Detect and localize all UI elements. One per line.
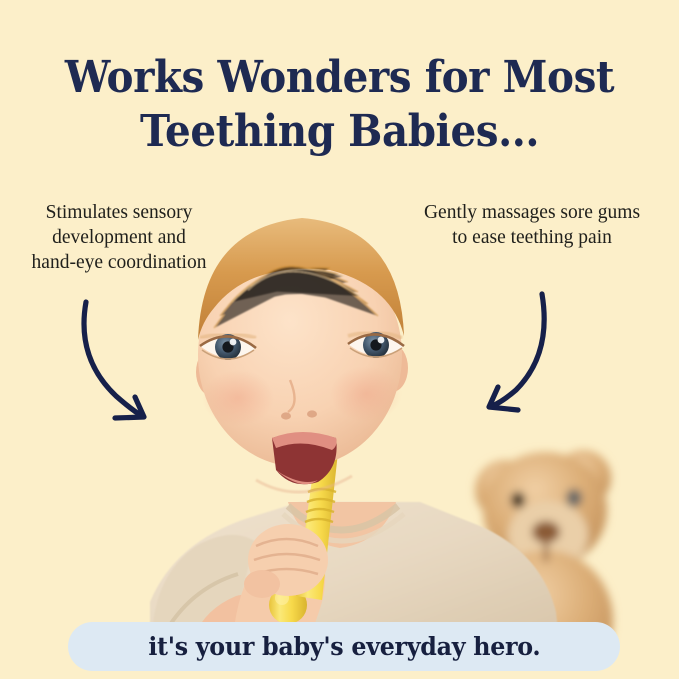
tagline-banner: it's your baby's everyday hero. bbox=[68, 622, 620, 671]
curved-arrow-right-icon bbox=[450, 280, 630, 440]
headline-line-2: Teething Babies... bbox=[27, 105, 652, 159]
annotation-left-line-3: hand-eye coordination bbox=[8, 250, 230, 275]
annotation-right: Gently massages sore gums to ease teethi… bbox=[404, 200, 660, 250]
annotation-right-line-1: Gently massages sore gums bbox=[404, 200, 660, 225]
annotation-left-line-2: development and bbox=[8, 225, 230, 250]
curved-arrow-left-icon bbox=[20, 280, 200, 440]
promo-image: Works Wonders for Most Teething Babies..… bbox=[0, 0, 679, 679]
annotation-right-line-2: to ease teething pain bbox=[404, 225, 660, 250]
annotation-left-line-1: Stimulates sensory bbox=[8, 200, 230, 225]
page-title: Works Wonders for Most Teething Babies..… bbox=[27, 51, 652, 159]
tagline-text: it's your baby's everyday hero. bbox=[148, 632, 540, 661]
annotation-left: Stimulates sensory development and hand-… bbox=[8, 200, 230, 275]
headline-line-1: Works Wonders for Most bbox=[27, 51, 652, 105]
